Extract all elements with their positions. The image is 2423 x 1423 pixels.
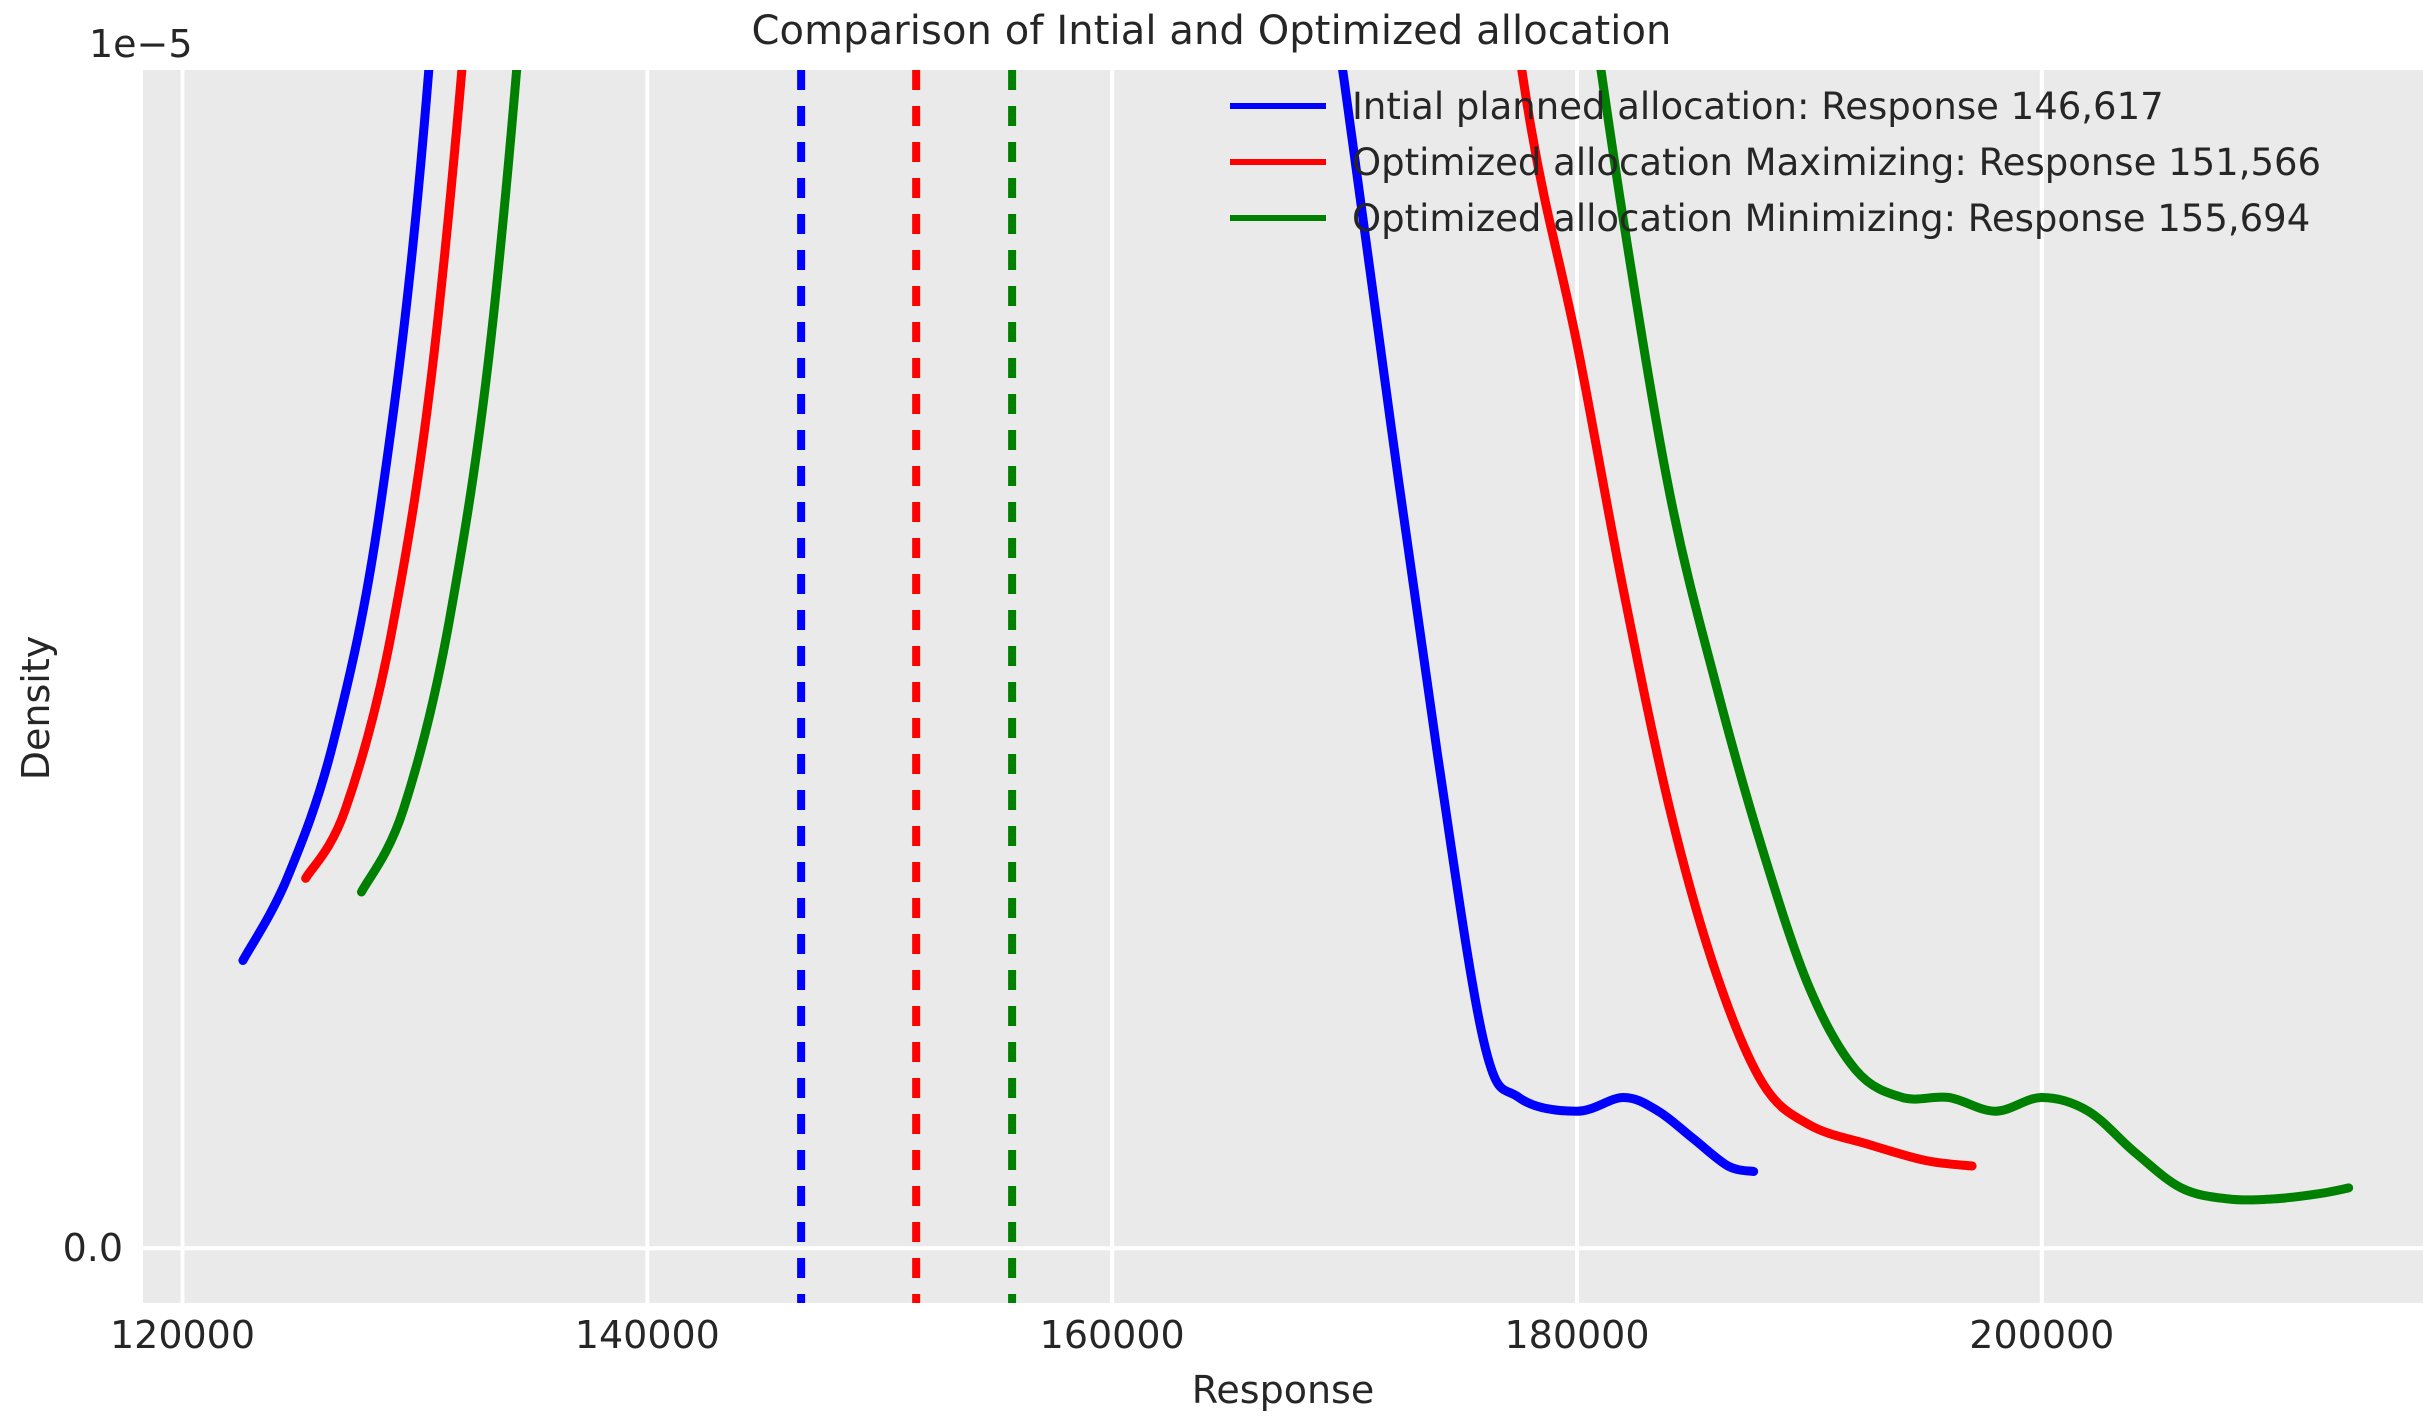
- legend-label-2: Optimized allocation Minimizing: Respons…: [1352, 197, 2310, 240]
- plot-svg: [143, 70, 2423, 1303]
- legend-line-swatch-1: [1230, 159, 1326, 165]
- legend-line-swatch-2: [1230, 215, 1326, 221]
- legend-item-0[interactable]: Intial planned allocation: Response 146,…: [1230, 78, 2400, 134]
- x-axis-label: Response: [143, 1368, 2423, 1412]
- x-tick-label: 200000: [1969, 1313, 2114, 1357]
- x-tick-label: 160000: [1040, 1313, 1185, 1357]
- mean-vertical-lines: [801, 70, 1012, 1303]
- x-tick-label: 120000: [110, 1313, 255, 1357]
- x-tick-label: 180000: [1504, 1313, 1649, 1357]
- legend-label-0: Intial planned allocation: Response 146,…: [1352, 85, 2164, 128]
- plot-area: [143, 70, 2423, 1303]
- x-tick-label: 140000: [575, 1313, 720, 1357]
- gridlines: [143, 70, 2423, 1303]
- y-axis-label: Density: [14, 498, 58, 918]
- chart-title: Comparison of Intial and Optimized alloc…: [0, 8, 2423, 54]
- figure: Comparison of Intial and Optimized alloc…: [0, 0, 2423, 1423]
- legend: Intial planned allocation: Response 146,…: [1230, 78, 2400, 246]
- legend-item-2[interactable]: Optimized allocation Minimizing: Respons…: [1230, 190, 2400, 246]
- y-axis-offset-text: 1e−5: [89, 22, 193, 66]
- y-tick-label: 0.0: [0, 1226, 141, 1270]
- legend-line-swatch-0: [1230, 103, 1326, 109]
- legend-item-1[interactable]: Optimized allocation Maximizing: Respons…: [1230, 134, 2400, 190]
- legend-label-1: Optimized allocation Maximizing: Respons…: [1352, 141, 2321, 184]
